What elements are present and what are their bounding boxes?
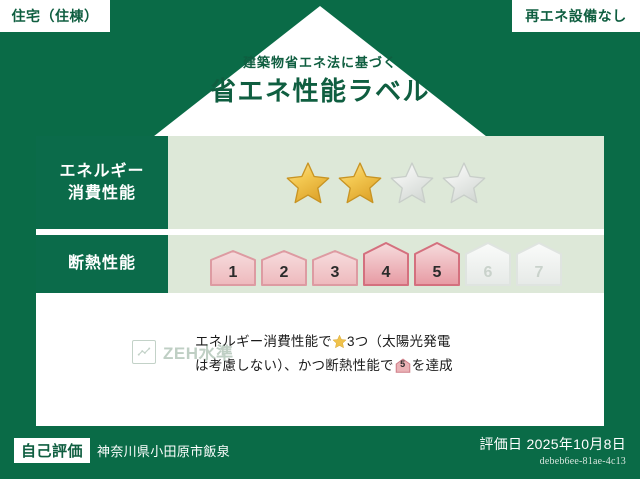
energy-label-line2: 消費性能 [68, 183, 136, 205]
label-subtitle: 建築物省エネ法に基づく [0, 55, 640, 71]
house-shape-icon [209, 249, 257, 287]
house-shape-icon [413, 241, 461, 287]
insulation-level-7: 7 [515, 241, 563, 287]
star-filled-icon [337, 160, 383, 206]
house-shape-icon [260, 249, 308, 287]
achievement-description: エネルギー消費性能で3つ（太陽光発電 は考慮しない）、かつ断熱性能で5を達成 [181, 330, 453, 377]
footer-right-group: 評価日 2025年10月8日 debeb6ee-81ae-4c13 [479, 434, 626, 467]
insulation-performance-label: 断熱性能 [36, 235, 168, 293]
insulation-level-2: 2 [260, 249, 308, 287]
insulation-level-6: 6 [464, 241, 512, 287]
star-empty-icon [441, 160, 487, 206]
energy-performance-label: 住宅（住棟） 再エネ設備なし 建築物省エネ法に基づく 省エネ性能ラベル エネルギ… [0, 0, 640, 479]
evaluation-date: 評価日 2025年10月8日 [479, 434, 626, 454]
inline-level-badge: 5 [395, 358, 411, 373]
house-shape-icon [515, 241, 563, 287]
insulation-performance-body: 1234567 [168, 235, 604, 293]
inline-level-number: 5 [395, 357, 411, 373]
description-line2-post: を達成 [412, 358, 453, 373]
house-shape-icon [464, 241, 512, 287]
chart-icon [132, 340, 156, 364]
insulation-performance-row: 断熱性能 1234567 [36, 235, 604, 293]
insulation-level-1: 1 [209, 249, 257, 287]
description-line1-pre: エネルギー消費性能で [195, 334, 332, 349]
zeh-standard-badge: ZEH水準 [36, 330, 181, 364]
self-evaluation-badge: 自己評価 [14, 438, 90, 463]
description-line2-pre: は考慮しない）、かつ断熱性能で [195, 358, 394, 373]
title-block: 建築物省エネ法に基づく 省エネ性能ラベル [0, 55, 640, 108]
page-title: 省エネ性能ラベル [0, 75, 640, 109]
energy-performance-label: エネルギー 消費性能 [36, 136, 168, 229]
insulation-level-5: 5 [413, 241, 461, 287]
inline-star-icon [332, 333, 347, 348]
energy-performance-body [168, 136, 604, 229]
footer-left-group: 自己評価 神奈川県小田原市飯泉 [14, 438, 230, 463]
energy-label-line1: エネルギー [59, 161, 144, 183]
building-type-tab: 住宅（住棟） [0, 0, 110, 32]
description-line-2: は考慮しない）、かつ断熱性能で5を達成 [195, 354, 453, 378]
label-footer: 自己評価 神奈川県小田原市飯泉 評価日 2025年10月8日 debeb6ee-… [0, 426, 640, 479]
star-rating [285, 160, 487, 206]
building-type-label: 住宅（住棟） [12, 6, 99, 26]
description-line1-post: 3つ（太陽光発電 [347, 334, 451, 349]
renewable-energy-tab: 再エネ設備なし [512, 0, 640, 32]
insulation-level-4: 4 [362, 241, 410, 287]
renewable-energy-label: 再エネ設備なし [525, 6, 627, 26]
description-line-1: エネルギー消費性能で3つ（太陽光発電 [195, 330, 453, 354]
house-shape-icon [311, 249, 359, 287]
star-filled-icon [285, 160, 331, 206]
insulation-level-scale: 1234567 [209, 241, 563, 287]
label-id: debeb6ee-81ae-4c13 [479, 456, 626, 467]
insulation-level-3: 3 [311, 249, 359, 287]
info-block: ZEH水準 エネルギー消費性能で3つ（太陽光発電 は考慮しない）、かつ断熱性能で… [36, 330, 604, 377]
energy-performance-row: エネルギー 消費性能 [36, 136, 604, 229]
insulation-label-text: 断熱性能 [68, 253, 136, 275]
location-text: 神奈川県小田原市飯泉 [97, 441, 230, 460]
house-shape-icon [362, 241, 410, 287]
star-empty-icon [389, 160, 435, 206]
